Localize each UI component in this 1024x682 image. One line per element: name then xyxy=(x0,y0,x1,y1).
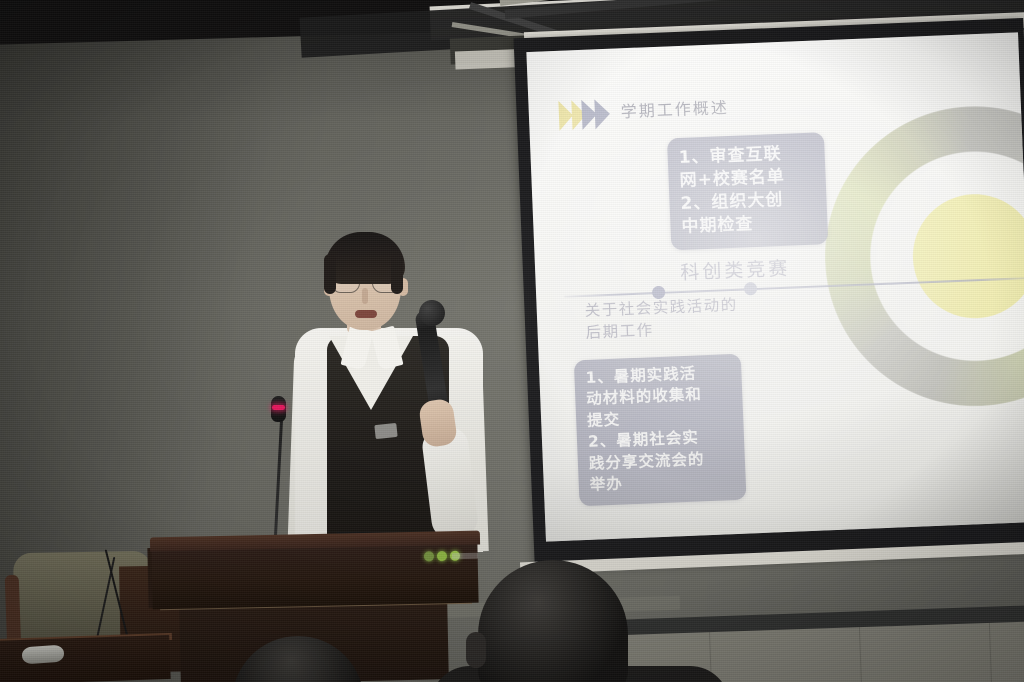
mic-status-led xyxy=(272,405,285,410)
projection-screen: 学期工作概述 1、审查互联 网+校赛名单 2、组织大创 中期检查 科创类竞赛 关… xyxy=(526,32,1024,541)
slide-heading: 学期工作概述 xyxy=(620,94,729,122)
computer-mouse xyxy=(21,645,64,665)
slide-callout-box-one: 1、审查互联 网+校赛名单 2、组织大创 中期检查 xyxy=(667,132,828,251)
chevron-icon xyxy=(558,99,611,131)
presenter xyxy=(283,232,498,552)
slide-paragraph: 关于社会实践活动的后期工作 xyxy=(584,294,746,344)
presenter-mouth xyxy=(355,310,377,318)
presenter-hair-side xyxy=(324,254,336,294)
slide-content: 学期工作概述 1、审查互联 网+校赛名单 2、组织大创 中期检查 科创类竞赛 关… xyxy=(526,32,1024,541)
timeline-node xyxy=(744,282,758,296)
indicator-light xyxy=(437,551,447,561)
presenter-vest-neckline xyxy=(329,336,413,410)
slide-section-label: 科创类竞赛 xyxy=(680,254,791,285)
donut-ring-graphic xyxy=(819,100,1024,412)
indicator-light xyxy=(424,551,434,561)
callout-line: 中期检查 xyxy=(681,211,817,240)
name-badge xyxy=(374,423,397,439)
callout-line: 举办 xyxy=(589,469,735,496)
podium-logo xyxy=(452,553,478,560)
slide-callout-box-two: 1、暑期实践活 动材料的收集和 提交 2、暑期社会实 践分享交流会的 举办 xyxy=(574,354,747,507)
presenter-hair-side xyxy=(391,254,403,294)
presentation-photo: 学期工作概述 1、审查互联 网+校赛名单 2、组织大创 中期检查 科创类竞赛 关… xyxy=(0,0,1024,682)
